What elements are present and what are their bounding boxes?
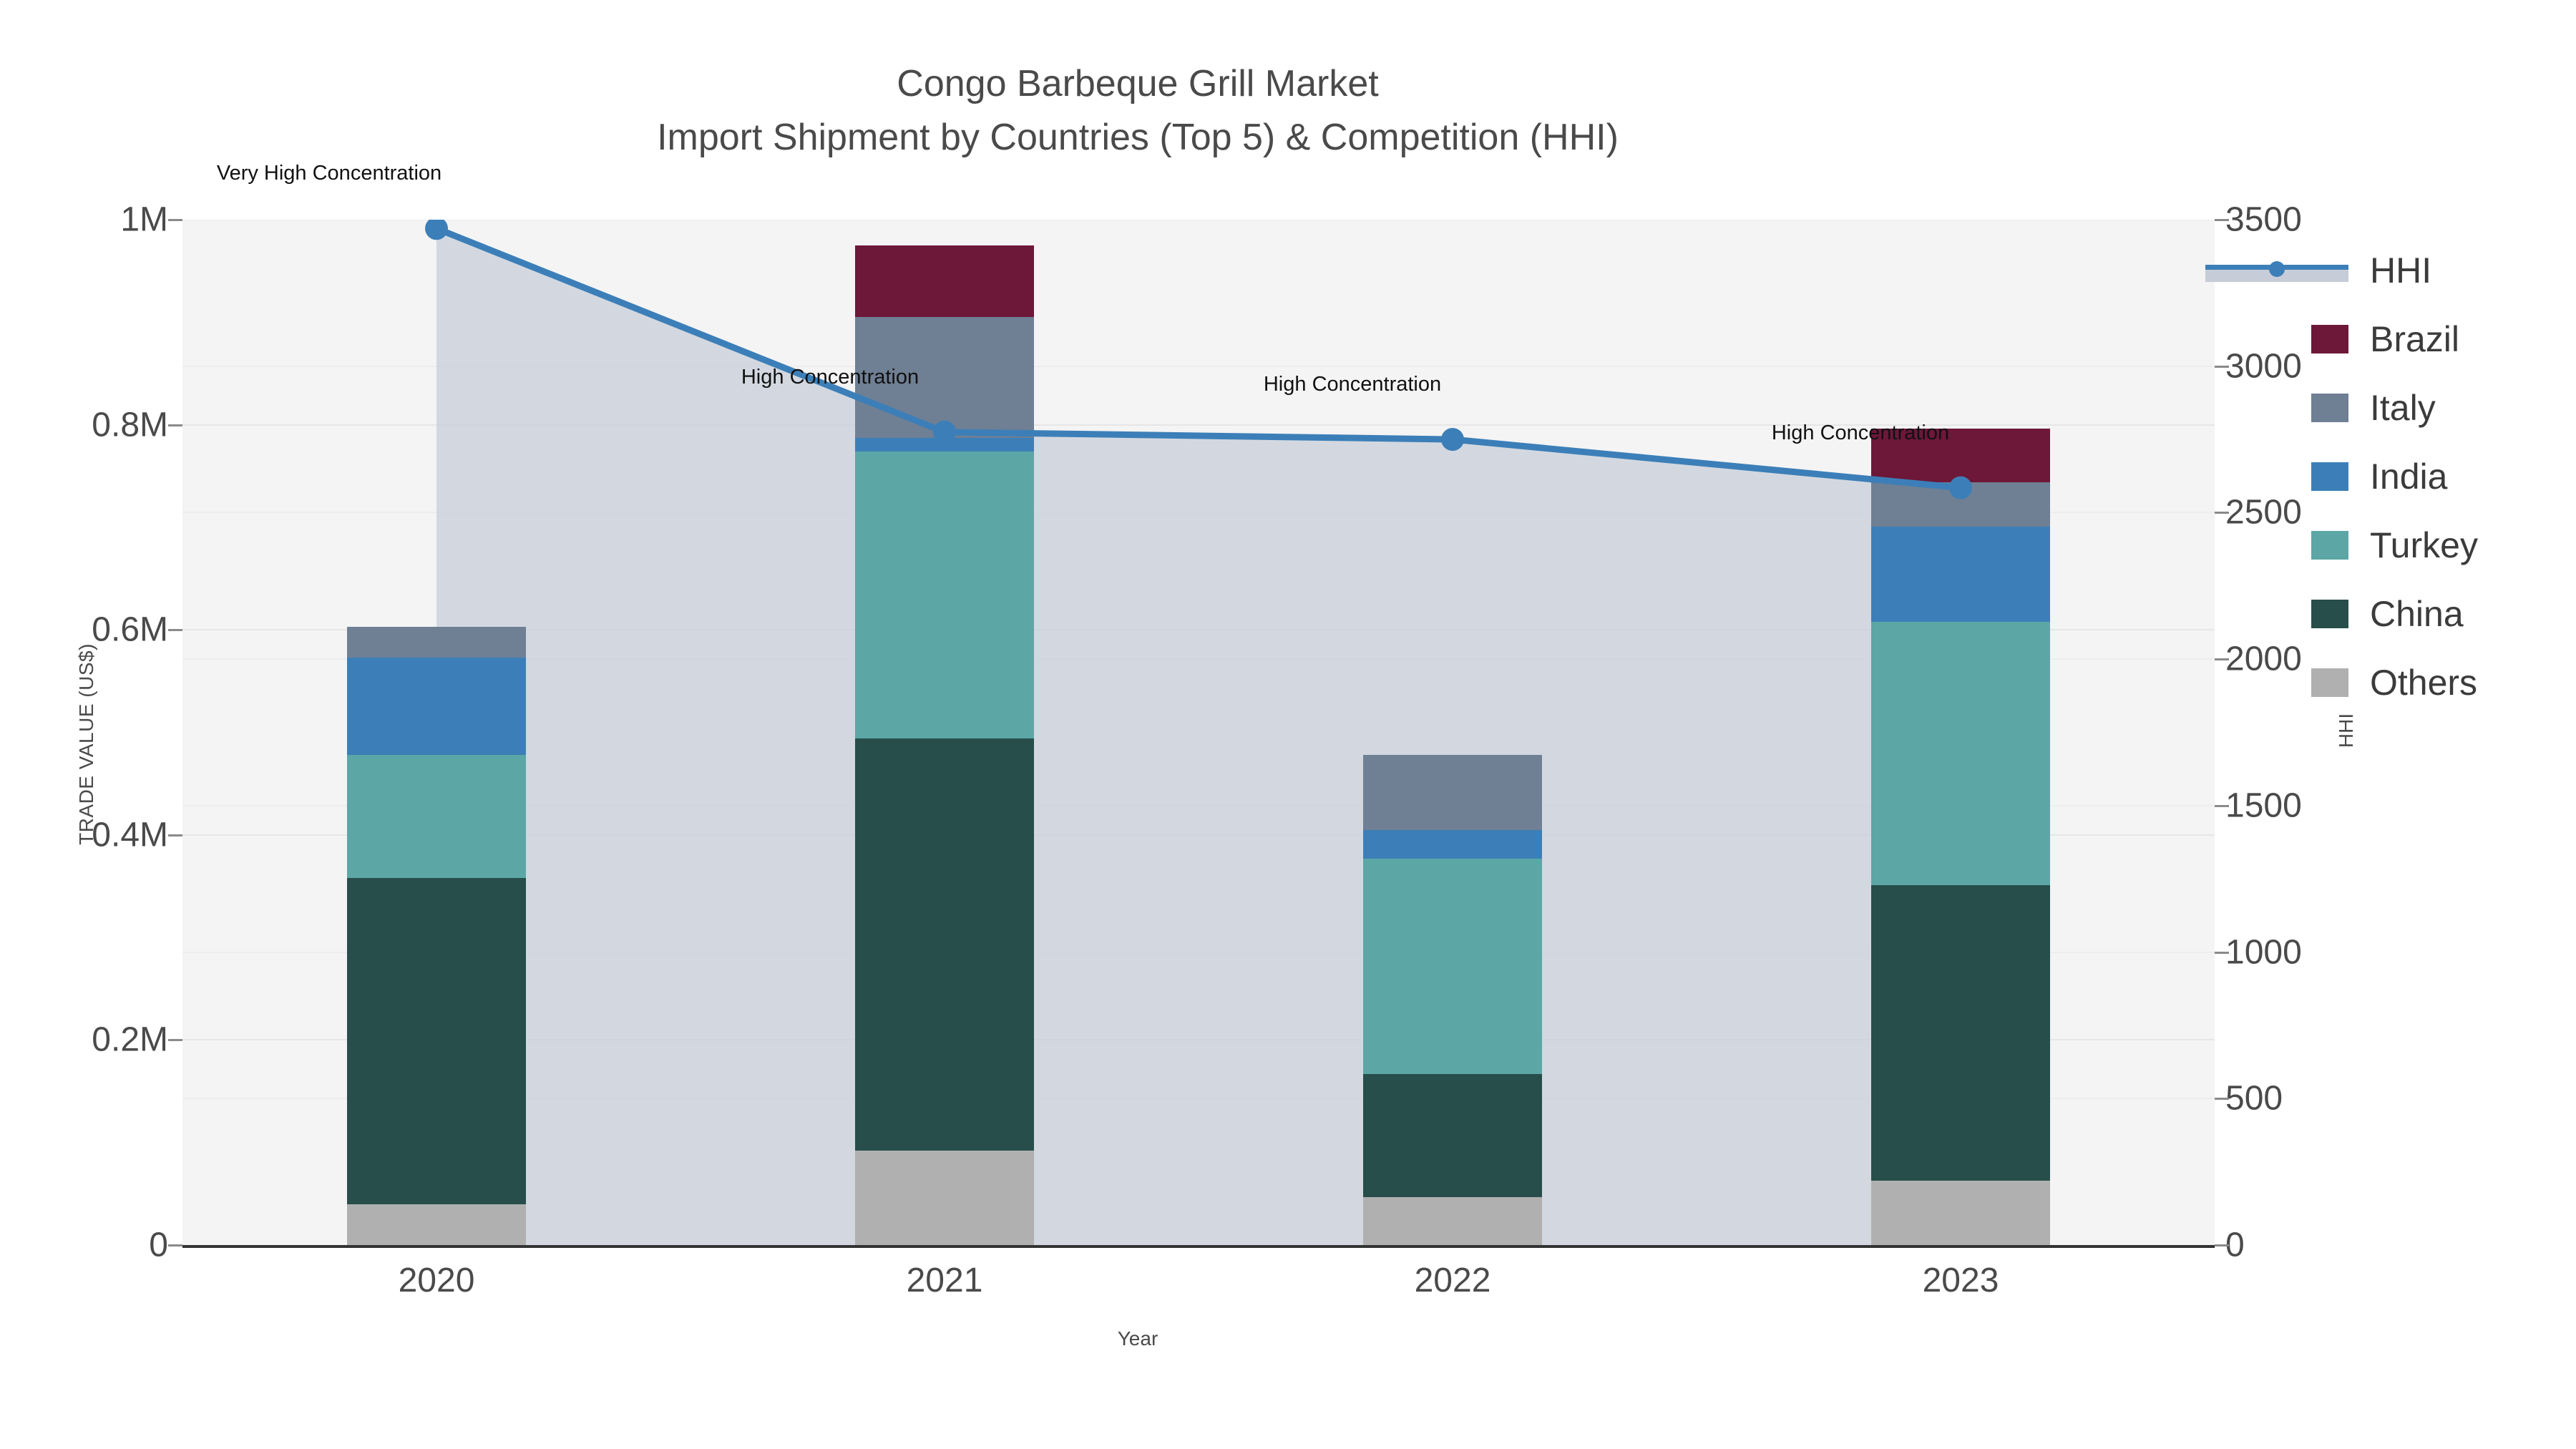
legend-label: HHI [2370,250,2431,291]
y-tickmark-right [2215,219,2229,221]
hhi-area-path [436,228,1961,1245]
bar-segment-italy[interactable] [1363,755,1542,830]
legend-item-turkey[interactable]: Turkey [2311,511,2478,580]
x-tick-2021: 2021 [837,1261,1052,1300]
legend-swatch-icon [2311,394,2348,422]
bar-segment-turkey[interactable] [855,452,1034,738]
bar-2020[interactable] [347,627,526,1245]
x-axis-line [182,1245,2215,1248]
y-axis-left-label: TRADE VALUE (US$) [75,643,98,845]
legend-label: Italy [2370,387,2436,429]
legend-label: China [2370,593,2464,635]
bar-segment-italy[interactable] [1871,482,2050,527]
bar-segment-india[interactable] [855,438,1034,452]
x-axis-label: Year [0,1327,2275,1350]
y-tickmark-left [168,1244,182,1246]
bar-segment-brazil[interactable] [855,245,1034,317]
legend-line-swatch-icon [2205,256,2348,285]
legend-label: India [2370,456,2447,497]
x-tick-2022: 2022 [1345,1261,1560,1300]
y-tickmark-left [168,629,182,631]
y-tickmark-left [168,219,182,221]
legend-item-brazil[interactable]: Brazil [2311,305,2478,374]
annotation-2021: High Concentration [741,366,919,389]
y-tick-right-1500: 1500 [2225,786,2404,825]
plot-area [182,220,2215,1245]
bar-2021[interactable] [855,245,1034,1245]
bar-segment-others[interactable] [855,1151,1034,1245]
bar-segment-india[interactable] [1363,830,1542,859]
title-line-2: Import Shipment by Countries (Top 5) & C… [0,111,2275,165]
y-tick-left-0: 0 [0,1226,168,1265]
legend-swatch-icon [2311,531,2348,560]
bar-2022[interactable] [1363,755,1542,1245]
annotation-2020: Very High Concentration [217,162,441,185]
bar-segment-turkey[interactable] [347,755,526,878]
bar-segment-turkey[interactable] [1363,859,1542,1074]
legend-label: Brazil [2370,318,2459,360]
y-tick-right-500: 500 [2225,1079,2404,1118]
y-tickmark-right [2215,952,2229,954]
bar-segment-india[interactable] [1871,527,2050,622]
y-tick-left-1M: 1M [0,200,168,240]
legend-swatch-icon [2311,668,2348,697]
bar-segment-china[interactable] [1871,885,2050,1181]
y-tickmark-left [168,424,182,426]
y-tick-right-3500: 3500 [2225,200,2404,240]
y-tick-right-0: 0 [2225,1226,2404,1265]
y-tickmark-right [2215,805,2229,807]
annotation-2023: High Concentration [1772,421,1949,445]
annotation-2022: High Concentration [1264,373,1441,396]
y-tickmark-left [168,1039,182,1041]
legend: HHIBrazilItalyIndiaTurkeyChinaOthers [2311,236,2478,717]
y-tickmark-left [168,834,182,836]
legend-swatch-icon [2311,325,2348,353]
legend-item-others[interactable]: Others [2311,648,2478,717]
legend-item-india[interactable]: India [2311,442,2478,511]
legend-item-hhi[interactable]: HHI [2311,236,2478,305]
y-tickmark-right [2215,1244,2229,1246]
legend-swatch-icon [2311,600,2348,628]
bar-segment-others[interactable] [1363,1197,1542,1245]
bar-segment-india[interactable] [347,658,526,755]
y-tickmark-right [2215,512,2229,514]
bar-segment-china[interactable] [347,878,526,1204]
x-tick-2020: 2020 [329,1261,544,1300]
y-tick-right-1000: 1000 [2225,932,2404,972]
bar-segment-china[interactable] [855,738,1034,1151]
bar-segment-others[interactable] [347,1204,526,1245]
legend-item-italy[interactable]: Italy [2311,374,2478,442]
y-tickmark-right [2215,658,2229,660]
y-tickmark-right [2215,366,2229,368]
y-tick-left-0.2M: 0.2M [0,1020,168,1060]
chart-root: Congo Barbeque Grill Market Import Shipm… [0,0,2576,1449]
page-title: Congo Barbeque Grill Market Import Shipm… [0,57,2275,165]
y-tickmark-right [2215,1098,2229,1100]
legend-label: Others [2370,662,2477,703]
y-tick-left-0.8M: 0.8M [0,405,168,444]
bar-segment-others[interactable] [1871,1181,2050,1245]
title-line-1: Congo Barbeque Grill Market [0,57,2275,111]
bar-segment-china[interactable] [1363,1074,1542,1197]
y-axis-right-label: HHI [2335,713,2358,748]
bar-2023[interactable] [1871,429,2050,1245]
bar-segment-italy[interactable] [347,627,526,658]
x-tick-2023: 2023 [1853,1261,2068,1300]
legend-label: Turkey [2370,525,2478,566]
legend-swatch-icon [2311,462,2348,491]
bar-segment-turkey[interactable] [1871,622,2050,885]
legend-item-china[interactable]: China [2311,580,2478,648]
